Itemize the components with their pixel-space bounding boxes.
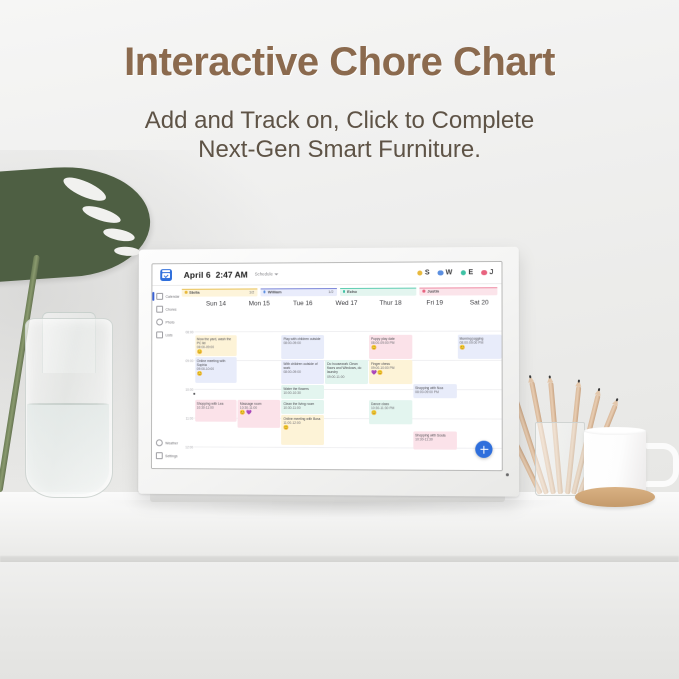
event-emoji: 😊 (371, 346, 410, 351)
event-time: 10:30-11:00 (283, 406, 322, 410)
calendar-event[interactable]: Shopping with Soula10:30-11:30 (413, 431, 456, 449)
day-header[interactable]: Mon 15 (238, 300, 281, 307)
person-dot (343, 290, 346, 293)
calendar-app: April 6 2:47 AM Schedule SWEJ CalendarCh… (152, 262, 502, 470)
day-column-0[interactable]: Mow the yard, wash the PC lid08:00-09:00… (194, 331, 237, 468)
person-task-count: 1/2 (328, 290, 333, 294)
page-title: Interactive Chore Chart (0, 40, 679, 85)
day-column-1[interactable]: Massage room10:30-11:00😊💜 (237, 331, 281, 469)
avatar-dot (481, 270, 486, 275)
avatar-j[interactable]: J (481, 269, 493, 276)
sidebar-item-label: Calendar (166, 294, 180, 298)
event-title: Finger chess (371, 362, 410, 366)
chevron-down-icon (275, 273, 279, 275)
day-header[interactable]: Tue 16 (281, 300, 325, 307)
day-column-5[interactable]: Shopping with Noa08:00-09:00 PMShopping … (413, 331, 457, 470)
person-chip-justin[interactable]: Justin (420, 287, 498, 296)
day-header[interactable]: Fri 19 (413, 299, 457, 306)
calendar-event[interactable]: Shopping with Lea10:30-11:00 (195, 400, 237, 422)
day-column-2[interactable]: Play with children outside08:00-09:00Wit… (281, 331, 325, 469)
sidebar-item-label: Photo (165, 320, 174, 324)
event-title: Do housework Clean floors and Windows, d… (327, 362, 366, 375)
person-name: Stella (189, 290, 199, 295)
calendar-event[interactable]: Water the flowers10:00-10:30 (281, 385, 324, 399)
calendar-event[interactable]: Dance class10:30-11:30 PM😊 (369, 400, 412, 424)
sidebar-item-label: Settings (165, 454, 177, 458)
view-selector[interactable]: Schedule (255, 271, 279, 276)
hour-label: 12:00 (185, 445, 193, 449)
power-led (506, 473, 509, 476)
calendar-event[interactable]: Mow the yard, wash the PC lid08:00-09:00… (195, 335, 237, 356)
header-date: April 6 (184, 269, 211, 279)
lower-wall (0, 562, 679, 679)
subtitle-line-2: Next-Gen Smart Furniture. (198, 136, 481, 163)
vase-water (27, 404, 109, 494)
day-header-row: Sun 14Mon 15Tue 16Wed 17Thur 18Fri 19Sat… (180, 299, 502, 307)
event-emoji: 😊 (197, 350, 235, 355)
display-screen[interactable]: April 6 2:47 AM Schedule SWEJ CalendarCh… (152, 262, 502, 470)
app-header: April 6 2:47 AM Schedule SWEJ (152, 262, 501, 286)
calendar-check-icon (160, 269, 172, 281)
page-subtitle: Add and Track on, Click to Complete Next… (0, 106, 679, 165)
day-column-3[interactable]: Do housework Clean floors and Windows, d… (325, 331, 369, 469)
day-header[interactable]: Sun 14 (194, 300, 237, 307)
sidebar: CalendarChoresPhotoLists WeatherSettings (152, 286, 180, 468)
avatar-letter: W (446, 269, 453, 276)
header-time: 2:47 AM (216, 269, 248, 279)
person-chip-bar (182, 288, 258, 289)
person-chip-row: Stella1/2William1/2EchoJustin (180, 284, 502, 297)
day-column-4[interactable]: Puppy play date08:00-09:00 PM😊Finger che… (368, 331, 412, 470)
hour-label: 10:00 (185, 388, 193, 392)
subtitle-line-1: Add and Track on, Click to Complete (145, 107, 535, 134)
person-name: Echo (347, 289, 357, 294)
calendar-event[interactable]: With children outside of work08:00-09:00 (281, 360, 324, 384)
shelf-contact-shadow (100, 500, 570, 518)
avatar-group: SWEJ (417, 269, 493, 277)
calendar-event[interactable]: Online meeting with Boss11:00-12:00😊 (281, 415, 324, 445)
hour-axis: 08:0009:0010:0011:0012:00 (181, 331, 194, 468)
sidebar-item-settings[interactable]: Settings (152, 449, 179, 462)
sidebar-item-photo[interactable]: Photo (152, 316, 179, 329)
sidebar-item-calendar[interactable]: Calendar (152, 290, 179, 303)
mug-rim (584, 427, 646, 435)
sidebar-item-label: Chores (166, 307, 177, 311)
event-time: 08:00-09:00 (283, 341, 322, 345)
event-title: Mow the yard, wash the PC lid (197, 337, 235, 345)
event-title: Online meeting with Sophia (197, 359, 235, 367)
smart-display-frame: April 6 2:47 AM Schedule SWEJ CalendarCh… (138, 247, 519, 497)
event-emoji: 😊💜 (240, 411, 278, 416)
pencil-holder (535, 422, 585, 496)
calendar-area: Stella1/2William1/2EchoJustin Sun 14Mon … (179, 284, 501, 470)
calendar-event[interactable]: Do housework Clean floors and Windows, d… (325, 360, 368, 384)
event-time: 08:00-09:00 (283, 370, 322, 374)
event-emoji: 😊 (197, 372, 235, 377)
avatar-dot (438, 270, 443, 275)
sidebar-item-label: Lists (165, 333, 172, 337)
photo-icon (156, 319, 163, 326)
avatar-e[interactable]: E (460, 269, 473, 276)
calendar-grid: 08:0009:0010:0011:0012:00 Mow the yard, … (179, 331, 501, 471)
person-chip-william[interactable]: William1/2 (260, 288, 336, 297)
sidebar-item-weather[interactable]: Weather (152, 436, 179, 449)
hour-label: 08:00 (186, 330, 194, 334)
event-time: 10:30-11:30 (415, 438, 454, 442)
vase-waterline (28, 403, 108, 405)
event-emoji: 😊 (283, 426, 322, 431)
calendar-event[interactable]: Online meeting with Sophia09:00-10:00😊 (195, 357, 237, 383)
calendar-event[interactable]: Shopping with Noa08:00-09:00 PM (413, 384, 456, 398)
person-chip-bar (260, 288, 336, 289)
event-time: 08:00-09:00 PM (415, 390, 454, 394)
calendar-icon (156, 293, 163, 300)
sidebar-item-lists[interactable]: Lists (152, 328, 179, 341)
person-name: Justin (427, 289, 439, 294)
event-title: Play with children outside (283, 337, 322, 341)
person-dot (423, 290, 426, 293)
person-dot (185, 291, 188, 294)
list-icon (156, 331, 163, 338)
person-chip-stella[interactable]: Stella1/2 (182, 288, 258, 297)
day-columns: Mow the yard, wash the PC lid08:00-09:00… (194, 331, 502, 471)
event-time: 10:30-11:00 (197, 406, 235, 410)
event-time: 10:00-10:30 (283, 391, 322, 395)
avatar-dot (417, 270, 422, 275)
display-bezel: April 6 2:47 AM Schedule SWEJ CalendarCh… (151, 261, 503, 471)
avatar-letter: E (468, 269, 473, 276)
calendar-event[interactable]: Massage room10:30-11:00😊💜 (238, 400, 280, 428)
calendar-event[interactable]: Morning jogging08:00-09:00 PM😊 (457, 335, 501, 359)
avatar-dot (460, 270, 465, 275)
event-title: With children outside of work (283, 362, 322, 370)
avatar-letter: S (425, 269, 430, 276)
person-chip-bar (420, 287, 498, 288)
avatar-s[interactable]: S (417, 269, 430, 276)
avatar-letter: J (489, 269, 493, 276)
day-header[interactable]: Sat 20 (457, 299, 502, 306)
hour-label: 11:00 (186, 417, 194, 421)
calendar-event[interactable]: Play with children outside08:00-09:00 (281, 335, 324, 359)
event-emoji: 💜😊 (371, 371, 410, 376)
person-chip-echo[interactable]: Echo (340, 287, 417, 296)
sidebar-item-label: Weather (165, 441, 178, 445)
calendar-event[interactable]: Finger chess09:00-10:00 PM💜😊 (369, 360, 412, 384)
event-emoji: 😊 (371, 411, 410, 416)
sidebar-item-chores[interactable]: Chores (152, 303, 179, 316)
event-emoji: 😊 (460, 346, 500, 351)
gear-icon (156, 452, 163, 459)
person-chip-bar (340, 287, 417, 288)
event-time: 09:00-11:00 (327, 375, 366, 379)
person-task-count: 1/2 (249, 290, 254, 294)
event-title: Shopping with Noa (415, 386, 454, 390)
mug-handle (641, 443, 679, 487)
hour-label: 09:00 (186, 359, 194, 363)
app-body: CalendarChoresPhotoLists WeatherSettings… (152, 284, 502, 470)
person-dot (263, 291, 266, 294)
person-name: William (268, 290, 282, 295)
day-header[interactable]: Thur 18 (368, 299, 412, 306)
cork-coaster (575, 487, 655, 507)
add-event-button[interactable] (475, 441, 492, 458)
avatar-w[interactable]: W (438, 269, 453, 276)
calendar-event[interactable]: Clean the living room10:30-11:00 (281, 400, 324, 414)
calendar-event[interactable]: Puppy play date08:00-09:00 PM😊 (369, 335, 412, 359)
view-selector-label: Schedule (255, 271, 273, 276)
day-header[interactable]: Wed 17 (325, 299, 369, 306)
broom-icon (156, 306, 163, 313)
weather-icon (156, 439, 163, 446)
